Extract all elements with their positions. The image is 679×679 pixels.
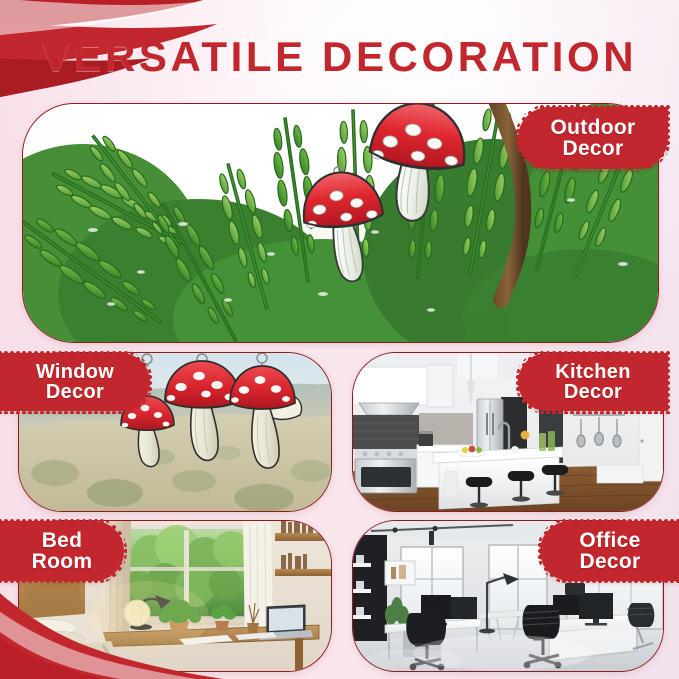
badge-bed-room[interactable]: Bed Room — [0, 521, 124, 581]
badge-window-decor[interactable]: Window Decor — [0, 353, 150, 411]
badge-window-line2: Decor — [46, 382, 104, 402]
badge-office-line2: Decor — [579, 551, 640, 572]
badge-kitchen-line2: Decor — [564, 382, 622, 402]
badge-office-decor[interactable]: Office Decor — [540, 521, 679, 581]
badge-bedroom-line2: Room — [32, 551, 93, 572]
badge-outdoor-line2: Decor — [562, 138, 623, 159]
badge-bedroom-line1: Bed — [42, 530, 83, 551]
badge-office-line1: Office — [579, 530, 640, 551]
badge-window-line1: Window — [36, 362, 114, 382]
badge-kitchen-decor[interactable]: Kitchen Decor — [518, 353, 668, 411]
page-title: VERSATILE DECORATION — [0, 36, 679, 78]
badge-outdoor-line1: Outdoor — [551, 117, 636, 138]
badge-kitchen-line1: Kitchen — [555, 362, 630, 382]
product-infographic-poster: VERSATILE DECORATION — [0, 0, 679, 679]
badge-outdoor-decor[interactable]: Outdoor Decor — [518, 107, 668, 169]
